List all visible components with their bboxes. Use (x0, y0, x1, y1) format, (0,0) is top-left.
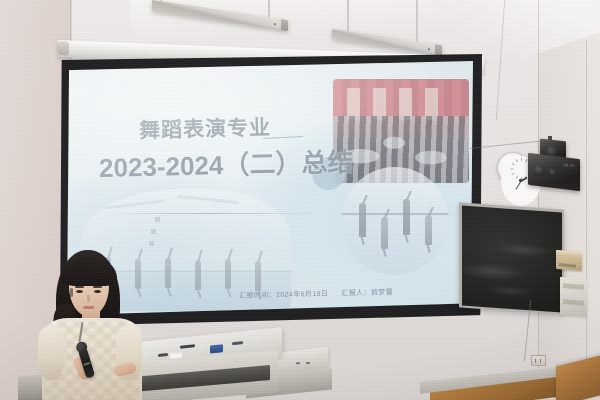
presenter-mouth (83, 306, 94, 309)
studio-dancer-4 (195, 260, 201, 290)
dancer-leg (382, 247, 387, 257)
circle-photo-mirror (341, 167, 449, 212)
footer-report-time-label: 汇报时间： (239, 292, 276, 300)
studio-dancer-5 (225, 259, 231, 289)
studio-marker-3 (149, 241, 154, 246)
clock-tick (515, 175, 517, 178)
clock-tick (511, 163, 514, 165)
blackboard-chalk-residue (462, 205, 562, 312)
circle-dancer-4 (425, 215, 432, 245)
dancer-arm (227, 248, 233, 261)
slide-divider-line (97, 213, 325, 214)
right-wall (538, 0, 600, 400)
presenter-brow-right (93, 286, 102, 288)
stage-window-4 (425, 88, 438, 119)
presenter-speaker (28, 248, 156, 400)
wall-clock (497, 152, 529, 184)
power-outlet[interactable] (531, 355, 546, 366)
wall-seam-right (538, 0, 539, 400)
clock-tick (510, 168, 513, 169)
studio-marker-1 (155, 217, 160, 222)
microphone-band (83, 362, 90, 366)
stage-window-1 (347, 88, 360, 119)
slide-subtitle: 2023-2024（二）总结 (99, 142, 354, 185)
dancer-leg (404, 233, 409, 243)
outlet-slot-right (540, 359, 541, 363)
pendant-indicator-left (274, 23, 276, 25)
circle-dancer-2 (381, 217, 388, 249)
speaker-tweeter-lower (549, 168, 556, 176)
stage-window-2 (373, 88, 386, 119)
clock-center-pin (519, 179, 521, 181)
clock-tick (521, 158, 522, 161)
slide-title: 舞蹈表演专业 (139, 111, 272, 144)
stage-window-3 (399, 88, 412, 119)
panel-strip-2 (563, 299, 584, 306)
presenter-eye-right (94, 290, 101, 293)
footer-reporter-label: 汇报人： (341, 290, 371, 298)
circle-photo-dancers (341, 167, 449, 275)
presenter-eye-left (76, 290, 83, 293)
wall-seam-far-right (586, 40, 587, 400)
dancer-arm (197, 249, 203, 262)
box-label (559, 263, 576, 267)
clock-tick (525, 159, 527, 162)
panel-strip-1 (563, 283, 584, 290)
studio-dancer-6 (255, 261, 261, 291)
studio-marker-2 (151, 229, 156, 234)
desk-item-marker[interactable] (158, 353, 168, 357)
dancer-leg (426, 243, 431, 253)
blackboard (459, 202, 564, 314)
presenter-sleeve-left (38, 326, 64, 380)
presenter-nose (87, 295, 90, 302)
blackboard-slate (462, 205, 562, 312)
dancer-leg (360, 235, 365, 245)
presenter-brow-left (75, 286, 84, 288)
dancer-arm (167, 247, 173, 260)
footer-report-time-value: 2024年6月18日 (276, 291, 328, 299)
screen-roller-end-cap (58, 41, 69, 55)
dancer-arm (257, 250, 263, 263)
circle-dancer-3 (403, 199, 410, 235)
console-led-1 (296, 362, 300, 364)
desk-item-clip[interactable] (232, 341, 243, 345)
presenter-earpiece-icon (70, 288, 73, 297)
speaker-lower: Hi-Fi (528, 153, 580, 191)
studio-dancer-3 (165, 258, 171, 288)
desk-item-remote[interactable] (210, 344, 223, 353)
desk-item-pen[interactable] (180, 344, 195, 349)
footer-reporter-value: 翁梦蕾 (371, 289, 393, 297)
clock-tick (511, 172, 514, 174)
clock-tick (515, 159, 517, 162)
wall-control-panel (560, 277, 587, 317)
box-lid (556, 250, 582, 257)
outlet-slot-left (535, 359, 536, 363)
circle-dancer-1 (359, 203, 366, 237)
console-led-2 (306, 362, 310, 364)
classroom-photo-scene: 舞蹈表演专业 2023-2024（二）总结 汇报时间：2024年6月18日汇报人… (0, 0, 600, 400)
cardboard-box (556, 250, 582, 271)
pendant-cap-left (281, 19, 288, 31)
circle-photo-barre (341, 213, 449, 215)
